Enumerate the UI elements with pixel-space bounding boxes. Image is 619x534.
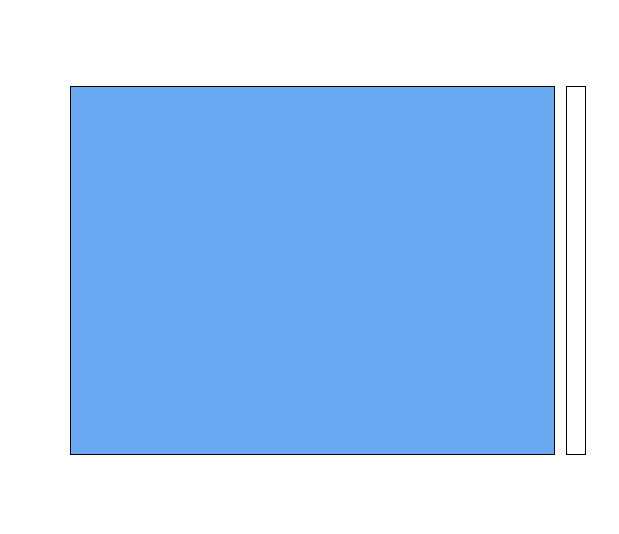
colorbar[interactable] (566, 86, 586, 455)
colorbar-gradient (566, 86, 586, 455)
bathymetry-map-image (71, 87, 554, 454)
data-overlay-rectangle (182, 156, 292, 215)
figure-root (0, 0, 619, 534)
map-plot-area[interactable] (70, 86, 555, 455)
